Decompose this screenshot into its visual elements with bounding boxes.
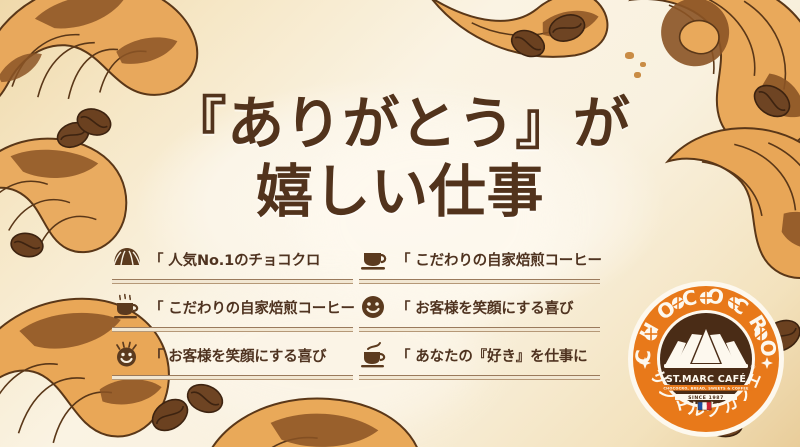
list-item: 「 こだわりの自家焙煎コーヒー — [112, 286, 357, 334]
smiling-face-icon — [359, 293, 389, 321]
st-marc-cafe-logo[interactable]: CHOCOCRO サンマルクカフェ — [626, 279, 786, 439]
logo-tagline: CHOCOCRO, BREAD, SWEETS & COFFEE — [663, 386, 749, 390]
list-item-label: 「 あなたの『好き』を仕事に — [396, 345, 588, 366]
coffee-cup-icon — [359, 245, 389, 273]
list-item: 「 こだわりの自家焙煎コーヒー — [359, 238, 604, 286]
list-item-label: 「 こだわりの自家焙煎コーヒー — [396, 249, 602, 270]
logo-brand-name: ST.MARC CAFÉ — [666, 372, 746, 385]
list-item-label: 「 人気No.1のチョコクロ — [149, 249, 320, 270]
list-item-label: 「 こだわりの自家焙煎コーヒー — [149, 297, 355, 318]
steaming-cup-icon — [112, 293, 142, 321]
list-item: 「 あなたの『好き』を仕事に — [359, 334, 604, 382]
list-item-label: 「 お客様を笑顔にする喜び — [149, 345, 326, 366]
list-item-label: 「 お客様を笑顔にする喜び — [396, 297, 573, 318]
list-item: 「 人気No.1のチョコクロ — [112, 238, 357, 286]
list-item: 「 お客様を笑顔にする喜び — [112, 334, 357, 382]
trademark-symbol: ® — [750, 364, 756, 371]
logo-svg: CHOCOCRO サンマルクカフェ — [626, 279, 786, 439]
french-flag-icon — [698, 402, 711, 410]
list-item: 「 お客様を笑顔にする喜び — [359, 286, 604, 334]
banner-root: 『ありがとう』が 嬉しい仕事 「 人気No.1のチョコクロ — [0, 0, 800, 447]
croissant-icon — [112, 245, 142, 273]
headline-line-1: 『ありがとう』が — [0, 95, 800, 154]
logo-since: SINCE 1987 — [688, 395, 724, 401]
feature-list: 「 人気No.1のチョコクロ 「 こだわりの自家焙煎コーヒー — [112, 238, 604, 382]
steam-cup-icon — [359, 341, 389, 369]
headline-line-2: 嬉しい仕事 — [0, 163, 800, 222]
page-title: 『ありがとう』が 嬉しい仕事 — [0, 95, 800, 222]
sun-smile-icon — [112, 341, 142, 369]
